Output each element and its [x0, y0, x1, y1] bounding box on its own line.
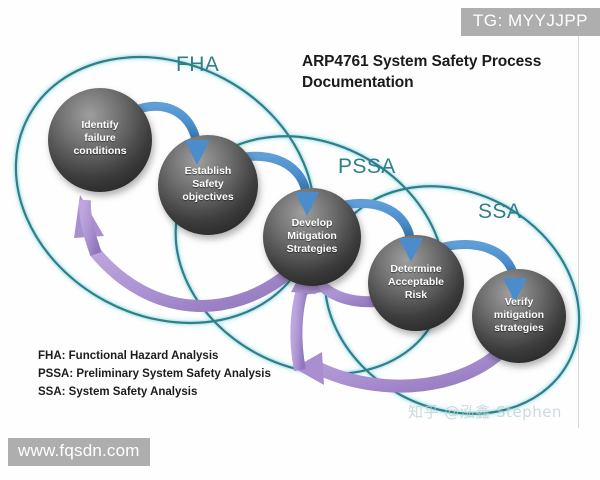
legend-item-ssa: SSA: System Safety Analysis: [38, 384, 271, 402]
diagram-canvas: ARP4761 System Safety Process Documentat…: [0, 0, 600, 480]
loop-label-ssa: SSA: [478, 200, 521, 224]
page-title-line-2: Documentation: [302, 73, 572, 94]
author-watermark: 知乎 @泓鑫 Stephen: [408, 401, 562, 422]
loop-label-fha: FHA: [176, 53, 219, 77]
process-nodes: [48, 88, 566, 363]
feedback-arrow-mid-up: [296, 290, 302, 370]
legend-item-fha: FHA: Functional Hazard Analysis: [38, 348, 271, 366]
site-watermark: www.fqsdn.com: [8, 438, 150, 466]
page-title: ARP4761 System Safety Process Documentat…: [302, 52, 572, 94]
abbreviation-legend: FHA: Functional Hazard Analysis PSSA: Pr…: [38, 348, 271, 401]
loop-label-pssa: PSSA: [338, 155, 396, 179]
feedback-arrow-pssa-to-fha: [95, 252, 290, 306]
page-title-line-1: ARP4761 System Safety Process: [302, 52, 572, 73]
node-establish-safety-objectives: [158, 135, 258, 235]
node-identify-failure-conditions: [48, 88, 152, 192]
telegram-watermark: TG: MYYJJPP: [461, 8, 600, 36]
legend-item-pssa: PSSA: Preliminary System Safety Analysis: [38, 366, 271, 384]
